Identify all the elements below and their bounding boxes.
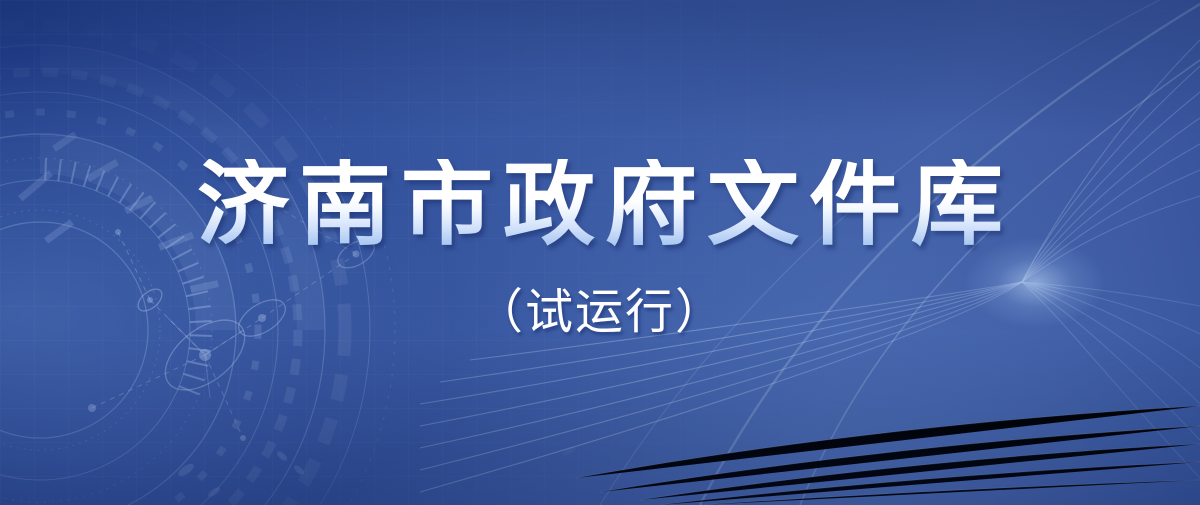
banner-text-block: 济南市政府文件库 （试运行） (0, 0, 1200, 505)
government-document-library-banner: 济南市政府文件库 （试运行） (0, 0, 1200, 505)
page-title: 济南市政府文件库 (187, 159, 1013, 251)
page-subtitle: （试运行） (475, 289, 725, 337)
